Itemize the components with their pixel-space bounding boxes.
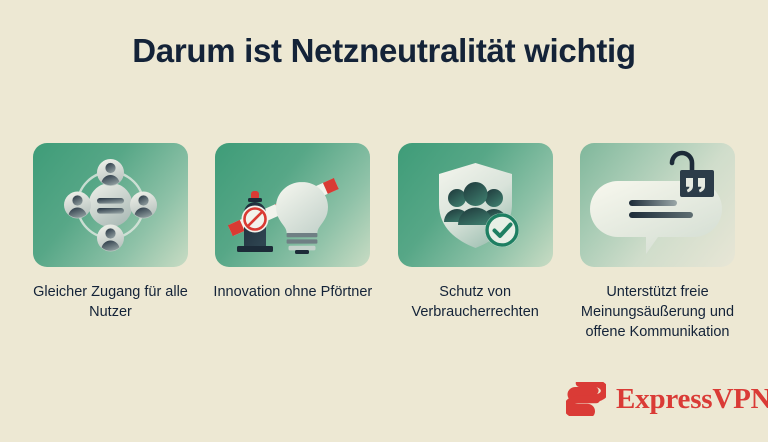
benefit-card-1-caption: Gleicher Zugang für alle Nutzer — [26, 282, 196, 322]
benefit-card-3: Schutz von Verbraucherrechten — [398, 143, 553, 342]
benefit-card-3-tile — [398, 143, 553, 267]
benefit-card-4-caption: Unterstützt freie Meinungsäußerung und o… — [572, 282, 742, 342]
benefit-card-2-tile — [215, 143, 370, 267]
page-title: Darum ist Netzneutralität wichtig — [0, 32, 768, 70]
expressvpn-e-mark-icon — [566, 382, 606, 416]
benefit-card-3-caption: Schutz von Verbraucherrechten — [390, 282, 560, 322]
expressvpn-logo: ExpressVPN — [566, 382, 768, 416]
benefit-card-1: Gleicher Zugang für alle Nutzer — [33, 143, 188, 342]
shield-people-check-icon — [398, 143, 553, 267]
infographic-canvas: Darum ist Netzneutralität wichtig — [0, 0, 768, 442]
benefit-card-1-tile — [33, 143, 188, 267]
expressvpn-wordmark: ExpressVPN — [616, 385, 768, 414]
speech-bubble-unlocked-quote-icon — [580, 143, 735, 267]
users-network-equals-icon — [33, 143, 188, 267]
benefit-card-4-tile — [580, 143, 735, 267]
benefit-card-4: Unterstützt freie Meinungsäußerung und o… — [580, 143, 735, 342]
benefit-card-2: Innovation ohne Pförtner — [215, 143, 370, 342]
benefit-card-row: Gleicher Zugang für alle Nutzer — [33, 143, 735, 342]
barrier-gate-lightbulb-icon — [215, 143, 370, 267]
benefit-card-2-caption: Innovation ohne Pförtner — [208, 282, 378, 302]
